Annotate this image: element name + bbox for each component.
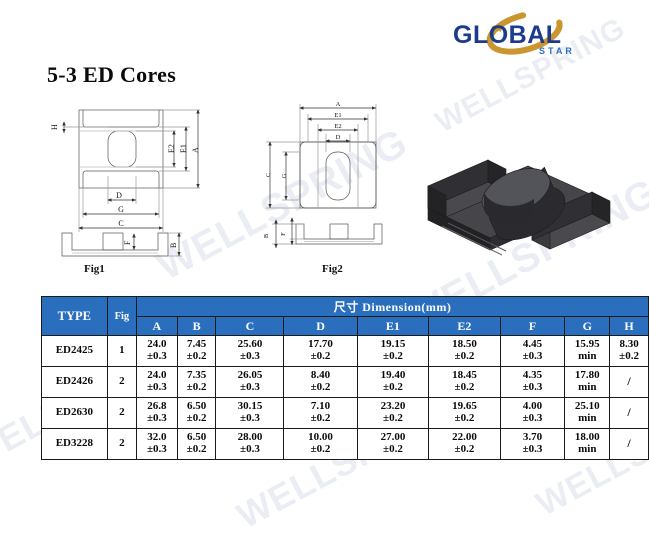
cell-a: 26.8±0.3 — [137, 398, 178, 429]
figure-2-drawing: A E1 E2 D C G B F — [258, 96, 418, 258]
ed-core-top-view-icon: H E2 E1 A D G C F B — [48, 100, 248, 258]
fig2-label-e1: E1 — [334, 112, 341, 119]
cell-type: ED2426 — [42, 367, 108, 398]
cell-tolerance: ±0.2 — [429, 351, 500, 363]
cell-e2: 18.45±0.2 — [429, 367, 501, 398]
fig1-label-a: A — [191, 147, 200, 153]
cell-tolerance: ±0.2 — [284, 382, 356, 394]
table-header-row-1: TYPE Fig 尺寸 Dimension(mm) — [42, 297, 649, 317]
cell-tolerance: ±0.2 — [284, 413, 356, 425]
cell-tolerance: ±0.3 — [216, 382, 283, 394]
cell-tolerance: ±0.2 — [429, 413, 500, 425]
logo-brand-text: GLOBAL — [453, 21, 562, 49]
table-row: ED3228232.0±0.36.50±0.228.00±0.310.00±0.… — [42, 429, 649, 460]
cell-tolerance: ±0.3 — [137, 413, 177, 425]
cell-type: ED2425 — [42, 336, 108, 367]
cell-c: 26.05±0.3 — [216, 367, 284, 398]
cell-type: ED2630 — [42, 398, 108, 429]
fig2-label-f: F — [280, 232, 287, 236]
cell-g: 18.00min — [565, 429, 610, 460]
cell-c: 25.60±0.3 — [216, 336, 284, 367]
dimension-table: TYPE Fig 尺寸 Dimension(mm) A B C D E1 E2 … — [41, 296, 649, 460]
cell-f: 3.70±0.3 — [500, 429, 565, 460]
col-header-dimension-group: 尺寸 Dimension(mm) — [137, 297, 649, 317]
cell-tolerance: ±0.2 — [429, 444, 500, 456]
fig1-label-f: F — [123, 240, 132, 245]
cell-f: 4.00±0.3 — [500, 398, 565, 429]
col-header-h: H — [610, 317, 649, 336]
cell-tolerance: ±0.2 — [178, 413, 216, 425]
cell-d: 8.40±0.2 — [284, 367, 357, 398]
cell-tolerance: min — [565, 444, 609, 456]
cell-tolerance: ±0.2 — [358, 382, 429, 394]
cell-f: 4.45±0.3 — [500, 336, 565, 367]
cell-type: ED3228 — [42, 429, 108, 460]
col-header-d: D — [284, 317, 357, 336]
cell-f: 4.35±0.3 — [500, 367, 565, 398]
ed-core-3d-render — [398, 130, 628, 268]
fig1-label-h: H — [50, 124, 59, 130]
cell-tolerance: ±0.2 — [178, 444, 216, 456]
cell-tolerance: ±0.3 — [216, 351, 283, 363]
fig1-label-d: D — [116, 191, 122, 200]
fig2-label-b: B — [263, 233, 270, 238]
cell-g: 17.80min — [565, 367, 610, 398]
cell-tolerance: min — [565, 382, 609, 394]
cell-tolerance: min — [565, 351, 609, 363]
cell-b: 6.50±0.2 — [177, 398, 216, 429]
fig2-label-a: A — [336, 101, 341, 108]
figure-1-drawing: H E2 E1 A D G C F B — [48, 100, 248, 258]
col-header-e2: E2 — [429, 317, 501, 336]
cell-tolerance: ±0.2 — [178, 382, 216, 394]
fig2-label-c: C — [265, 173, 272, 177]
cell-e1: 19.40±0.2 — [357, 367, 429, 398]
cell-c: 28.00±0.3 — [216, 429, 284, 460]
cell-tolerance: ±0.3 — [137, 444, 177, 456]
cell-tolerance: ±0.3 — [216, 444, 283, 456]
cell-tolerance: min — [565, 413, 609, 425]
col-header-f: F — [500, 317, 565, 336]
cell-fig: 2 — [107, 367, 136, 398]
cell-e1: 23.20±0.2 — [357, 398, 429, 429]
cell-e2: 18.50±0.2 — [429, 336, 501, 367]
cell-e1: 19.15±0.2 — [357, 336, 429, 367]
cell-h: / — [610, 367, 649, 398]
logo-icon: GLOBAL STAR — [443, 10, 603, 58]
cell-tolerance: ±0.3 — [501, 413, 565, 425]
col-header-type: TYPE — [42, 297, 108, 336]
cell-fig: 2 — [107, 429, 136, 460]
cell-h: / — [610, 429, 649, 460]
col-header-b: B — [177, 317, 216, 336]
cell-tolerance: ±0.3 — [501, 382, 565, 394]
col-header-e1: E1 — [357, 317, 429, 336]
cell-tolerance: ±0.3 — [137, 351, 177, 363]
table-row: ED2425124.0±0.37.45±0.225.60±0.317.70±0.… — [42, 336, 649, 367]
cell-e2: 19.65±0.2 — [429, 398, 501, 429]
cell-tolerance: ±0.2 — [358, 351, 429, 363]
cell-tolerance: ±0.2 — [358, 413, 429, 425]
fig2-label-e2: E2 — [334, 123, 341, 130]
cell-tolerance: ±0.3 — [501, 351, 565, 363]
table-row: ED2426224.0±0.37.35±0.226.05±0.38.40±0.2… — [42, 367, 649, 398]
global-star-logo: GLOBAL STAR — [443, 10, 603, 58]
figure-2-caption: Fig2 — [322, 263, 343, 275]
cell-value: / — [627, 374, 630, 388]
cell-tolerance: ±0.2 — [178, 351, 216, 363]
cell-tolerance: ±0.2 — [284, 351, 356, 363]
cell-c: 30.15±0.3 — [216, 398, 284, 429]
cell-value: / — [627, 405, 630, 419]
cell-tolerance: ±0.2 — [610, 351, 648, 363]
col-header-a: A — [137, 317, 178, 336]
logo-tagline-text: STAR — [539, 46, 575, 56]
figure-1-caption: Fig1 — [84, 263, 105, 275]
cell-a: 24.0±0.3 — [137, 336, 178, 367]
cell-h: / — [610, 398, 649, 429]
cell-tolerance: ±0.2 — [358, 444, 429, 456]
fig2-label-g: G — [281, 173, 288, 178]
cell-e2: 22.00±0.2 — [429, 429, 501, 460]
cell-d: 7.10±0.2 — [284, 398, 357, 429]
ed-core-3d-icon — [398, 130, 628, 268]
cell-b: 6.50±0.2 — [177, 429, 216, 460]
cell-b: 7.45±0.2 — [177, 336, 216, 367]
cell-fig: 1 — [107, 336, 136, 367]
page-title: 5-3 ED Cores — [47, 62, 176, 88]
table-header: TYPE Fig 尺寸 Dimension(mm) A B C D E1 E2 … — [42, 297, 649, 336]
fig1-label-c: C — [118, 219, 123, 228]
cell-h: 8.30±0.2 — [610, 336, 649, 367]
cell-tolerance: ±0.2 — [429, 382, 500, 394]
fig1-label-b: B — [169, 243, 178, 248]
fig2-label-d: D — [336, 134, 341, 141]
col-header-c: C — [216, 317, 284, 336]
table-body: ED2425124.0±0.37.45±0.225.60±0.317.70±0.… — [42, 336, 649, 460]
cell-b: 7.35±0.2 — [177, 367, 216, 398]
table-row: ED2630226.8±0.36.50±0.230.15±0.37.10±0.2… — [42, 398, 649, 429]
col-header-g: G — [565, 317, 610, 336]
cell-d: 10.00±0.2 — [284, 429, 357, 460]
cell-tolerance: ±0.3 — [501, 444, 565, 456]
cell-value: / — [627, 436, 630, 450]
cell-g: 15.95min — [565, 336, 610, 367]
cell-d: 17.70±0.2 — [284, 336, 357, 367]
cell-tolerance: ±0.3 — [137, 382, 177, 394]
cell-a: 32.0±0.3 — [137, 429, 178, 460]
ed-core-front-view-icon: A E1 E2 D C G B F — [258, 96, 418, 258]
fig1-label-e1: E1 — [179, 144, 188, 153]
cell-fig: 2 — [107, 398, 136, 429]
col-header-fig: Fig — [107, 297, 136, 336]
cell-tolerance: ±0.3 — [216, 413, 283, 425]
cell-g: 25.10min — [565, 398, 610, 429]
fig1-label-e2: E2 — [167, 144, 176, 153]
fig1-label-g: G — [118, 205, 124, 214]
cell-a: 24.0±0.3 — [137, 367, 178, 398]
cell-tolerance: ±0.2 — [284, 444, 356, 456]
cell-e1: 27.00±0.2 — [357, 429, 429, 460]
